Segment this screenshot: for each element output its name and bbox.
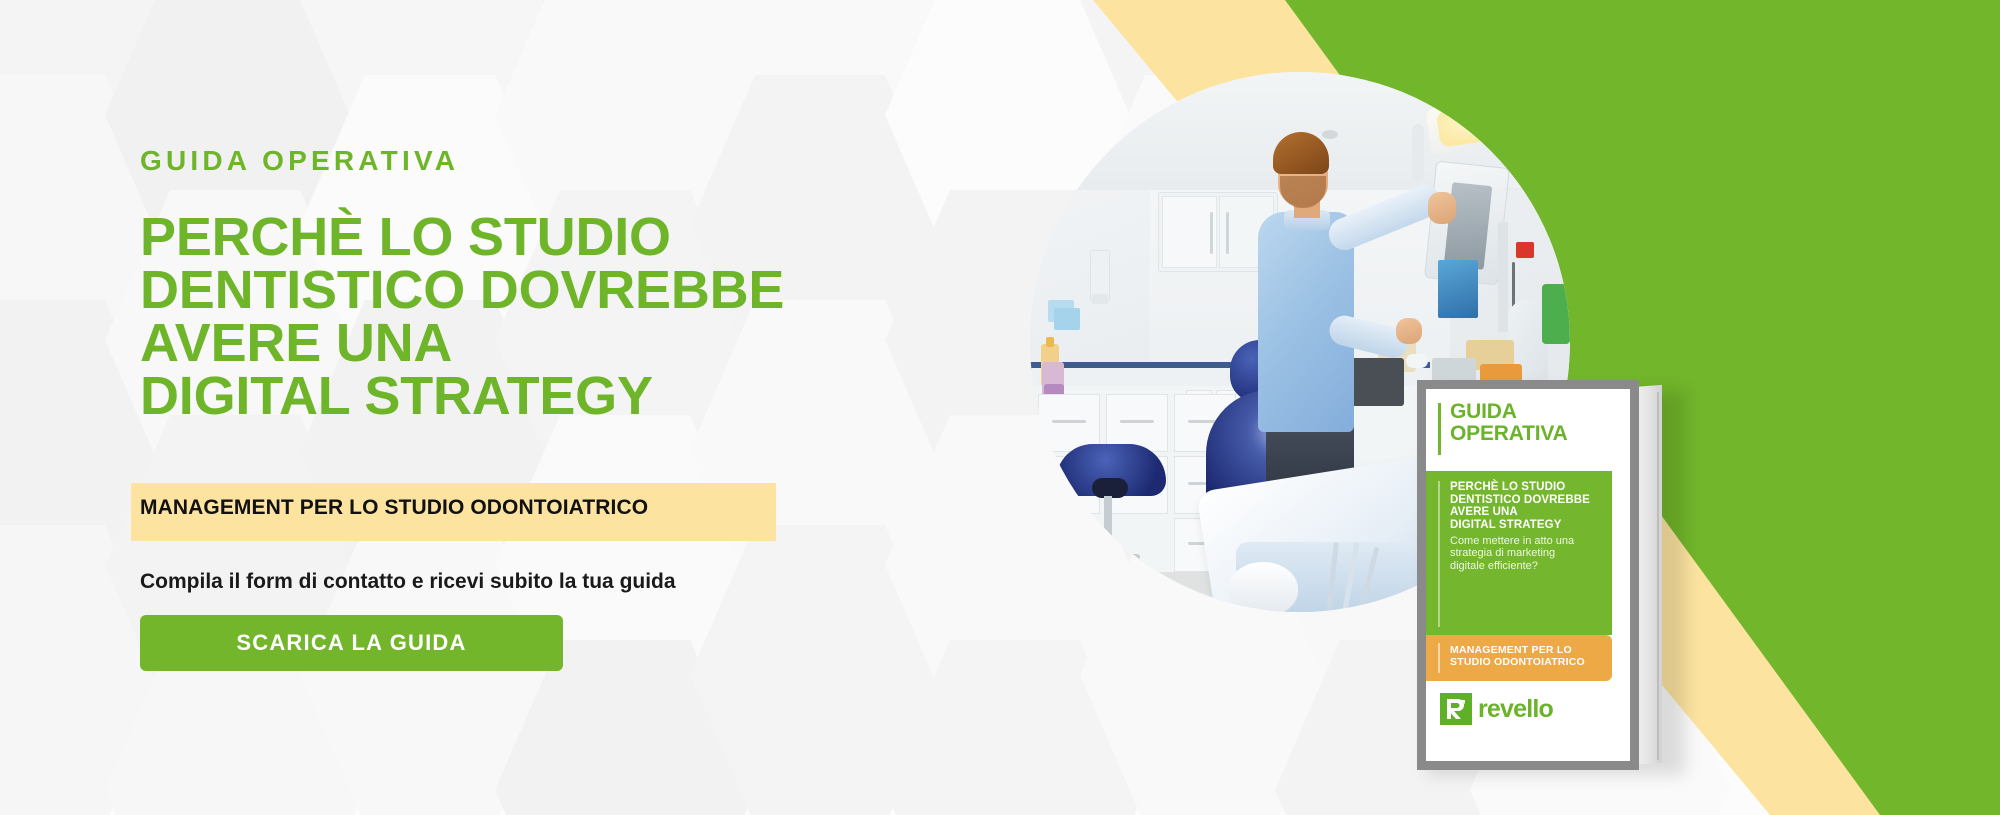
revello-r-icon — [1440, 693, 1472, 725]
guide-book-mockup: GUIDA OPERATIVA PERCHÈ LO STUDIO DENTIST… — [1417, 380, 1685, 770]
highlight-label: MANAGEMENT PER LO STUDIO ODONTOIATRICO — [140, 496, 648, 520]
revello-logo: revello — [1440, 693, 1553, 725]
book-cover-footer: MANAGEMENT PER LO STUDIO ODONTOIATRICO — [1450, 644, 1585, 668]
revello-logo-text: revello — [1478, 695, 1553, 724]
promo-banner: GUIDA OPERATIVA PERCHÈ LO STUDIO DENTIST… — [0, 0, 2000, 815]
subtext: Compila il form di contatto e ricevi sub… — [140, 570, 676, 594]
book-cover-face: GUIDA OPERATIVA PERCHÈ LO STUDIO DENTIST… — [1426, 389, 1630, 761]
book-cover-accent-rule — [1438, 403, 1441, 455]
book-cover-orange-rule — [1438, 643, 1440, 673]
book-cover-green-rule — [1438, 481, 1440, 627]
book-cover-subtitle: Come mettere in atto una strategia di ma… — [1450, 535, 1574, 572]
book-cover-kicker: GUIDA OPERATIVA — [1450, 401, 1568, 445]
eyebrow-label: GUIDA OPERATIVA — [140, 145, 459, 177]
book-cover-title: PERCHÈ LO STUDIO DENTISTICO DOVREBBE AVE… — [1450, 481, 1590, 531]
page-title: PERCHÈ LO STUDIO DENTISTICO DOVREBBE AVE… — [140, 211, 784, 423]
download-guide-button[interactable]: SCARICA LA GUIDA — [140, 615, 563, 671]
banner-content: GUIDA OPERATIVA PERCHÈ LO STUDIO DENTIST… — [140, 0, 960, 815]
book-page-edge-line — [1657, 392, 1659, 760]
